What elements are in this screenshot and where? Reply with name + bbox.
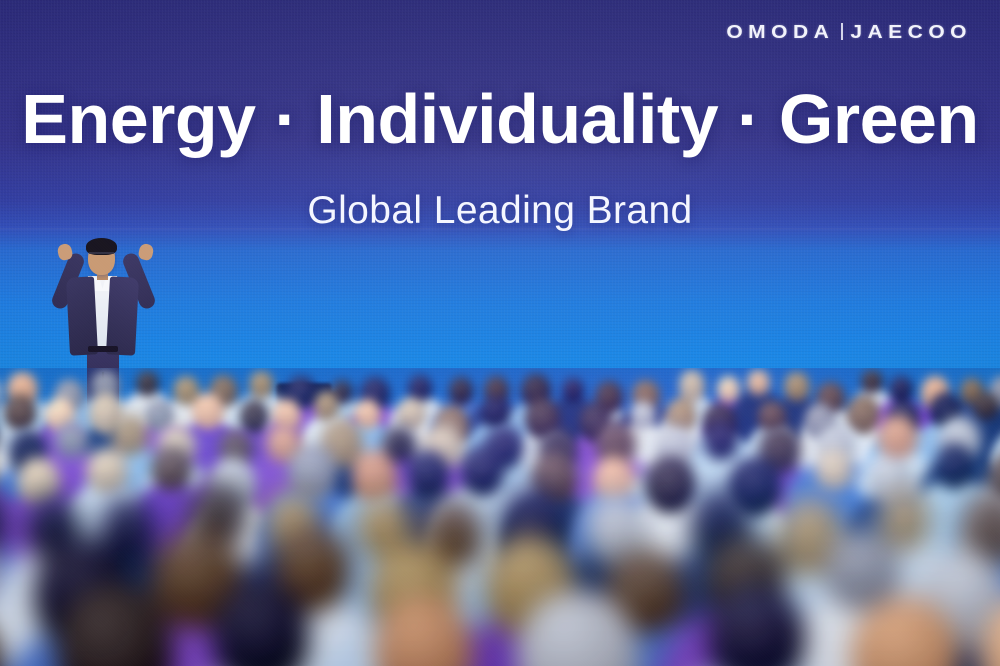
slide-subheadline-text: Global Leading Brand <box>307 190 692 233</box>
speaker-belt <box>88 346 118 352</box>
audience-member-head <box>0 481 5 559</box>
slide-subheadline: Global Leading Brand <box>0 190 1000 233</box>
brand-logo-omoda-text: OMODA <box>726 23 834 41</box>
speaker-jacket-left-panel <box>66 276 98 355</box>
brand-logo-jaecoo-text: JAECOO <box>850 23 972 41</box>
brand-logo: OMODA JAECOO <box>726 22 972 43</box>
keynote-stage-scene: OMODA JAECOO Energy · Individuality · Gr… <box>0 0 1000 666</box>
slide-headline-text: Energy · Individuality · Green <box>21 84 978 155</box>
brand-logo-divider-icon <box>841 23 843 40</box>
speaker-glasses-icon <box>89 252 114 257</box>
seated-audience <box>0 368 1000 666</box>
slide-headline: Energy · Individuality · Green <box>0 84 1000 155</box>
speaker-right-hand <box>137 243 154 262</box>
speaker-jacket-right-panel <box>106 276 139 355</box>
audience-front-rows <box>0 368 1000 666</box>
